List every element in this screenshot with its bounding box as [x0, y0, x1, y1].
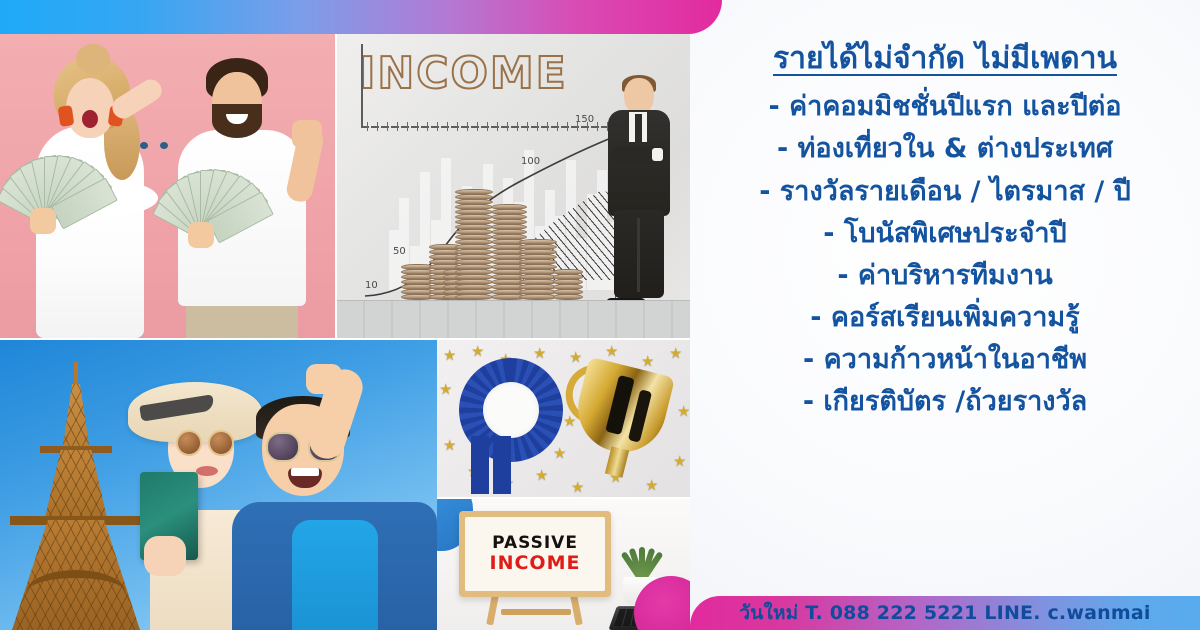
contact-footer-bar[interactable]: วันใหม่ T. 088 222 5221 LINE. c.wanmai: [690, 596, 1200, 630]
chart-label-100: 100: [521, 156, 540, 167]
board-line-passive: PASSIVE: [492, 535, 578, 552]
page-title: รายได้ไม่จำกัด ไม่มีเพดาน: [773, 40, 1117, 78]
benefit-item-1: - ค่าคอมมิชชั่นปีแรก และปีต่อ: [769, 89, 1122, 124]
benefit-item-6: - คอร์สเรียนเพิ่มความรู้: [810, 300, 1079, 335]
chart-label-10: 10: [365, 280, 378, 291]
coin-stack-6: [519, 238, 557, 300]
businessman-figure: [596, 78, 682, 302]
contact-text: วันใหม่ T. 088 222 5221 LINE. c.wanmai: [739, 604, 1150, 623]
man-blue-tshirt: [292, 520, 378, 630]
poster-canvas: INCOME 10 50 100 150 15 14 13 12 11 10 9…: [0, 0, 1200, 630]
man-hand-on-head: [306, 364, 342, 394]
coin-stack-7: [553, 270, 583, 300]
benefit-item-5: - ค่าบริหารทีมงาน: [837, 258, 1052, 293]
income-chalk-title: INCOME: [359, 48, 568, 99]
woman-hair-bun: [76, 44, 110, 74]
benefits-copy-block: รายได้ไม่จำกัด ไม่มีเพดาน - ค่าคอมมิชชั่…: [690, 0, 1200, 596]
man-hand: [188, 222, 214, 248]
woman-lips: [196, 466, 218, 476]
photo-cash-couple: [0, 32, 335, 338]
woman-sunglasses: [176, 430, 234, 456]
trophy-stem: [605, 446, 629, 478]
board-line-income: INCOME: [490, 554, 581, 573]
woman-face: [66, 78, 114, 138]
chart-label-50: 50: [393, 246, 406, 257]
woman-hand: [30, 208, 56, 234]
man-fist: [292, 120, 322, 148]
rosette-center-disc: [483, 382, 539, 438]
benefit-item-4: - โบนัสพิเศษประจำปี: [823, 216, 1066, 251]
wooden-floor: [337, 300, 690, 338]
woman-eye-right: [160, 142, 168, 149]
chart-y-axis: [361, 44, 363, 128]
photo-income-chart: INCOME 10 50 100 150 15 14 13 12 11 10 9…: [337, 32, 690, 338]
benefit-item-8: - เกียรติบัตร /ถ้วยรางวัล: [803, 384, 1087, 419]
coin-stack-4: [455, 188, 493, 300]
woman-hand-holding-passport: [144, 536, 186, 576]
photo-trophy-rosette: ★★★ ★★★ ★★ ★★★ ★★★ ★★★ ★★★ ★★★: [437, 340, 690, 497]
text-panel: รายได้ไม่จำกัด ไม่มีเพดาน - ค่าคอมมิชชั่…: [690, 0, 1200, 630]
benefit-item-3: - รางวัลรายเดือน / ไตรมาส / ปี: [759, 174, 1131, 209]
woman-eye-left: [140, 142, 148, 149]
whiteboard-frame: PASSIVE INCOME: [459, 511, 611, 597]
eiffel-tier-mid: [44, 450, 108, 522]
cash-fan-man: [168, 162, 260, 232]
businessman-tie: [635, 114, 642, 144]
businessman-trousers: [614, 210, 664, 298]
benefit-item-2: - ท่องเที่ยวใน & ต่างประเทศ: [777, 131, 1113, 166]
benefit-item-7: - ความก้าวหน้าในอาชีพ: [803, 342, 1087, 377]
photo-travel-couple: [0, 340, 437, 630]
photo-collage: INCOME 10 50 100 150 15 14 13 12 11 10 9…: [0, 0, 690, 630]
succulent-plant: [619, 539, 663, 581]
easel-crossbar: [501, 609, 571, 615]
photo-passive-income: PASSIVE INCOME: [437, 499, 690, 630]
cash-fan-woman: [12, 148, 104, 218]
rosette-ribbon-tails: [471, 436, 511, 494]
businessman-head: [624, 78, 654, 114]
top-gradient-ribbon: [0, 0, 722, 34]
eiffel-tier-top: [62, 384, 90, 452]
woman-earring-left: [58, 105, 75, 127]
chart-label-150: 150: [575, 114, 594, 125]
eiffel-arch: [26, 570, 126, 616]
gold-trophy: [560, 344, 682, 494]
whiteboard-face: PASSIVE INCOME: [465, 517, 605, 591]
businessman-cuff: [652, 148, 663, 161]
woman-open-mouth: [82, 110, 98, 128]
